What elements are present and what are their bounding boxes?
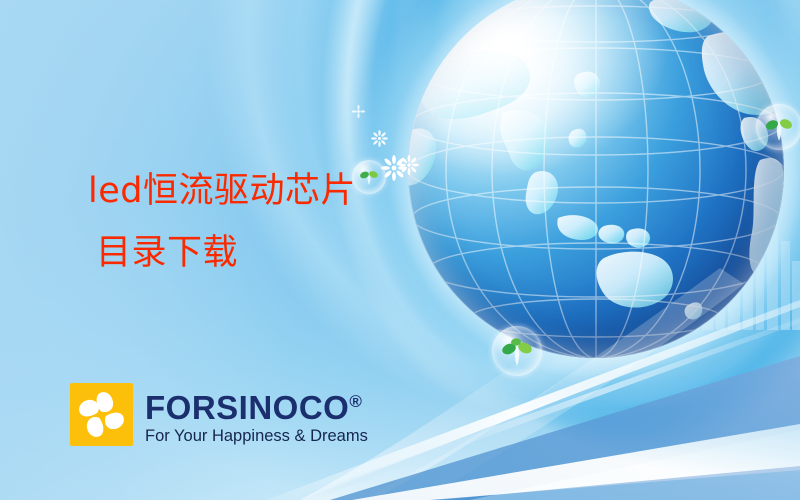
registered-trademark-icon: ® [349,392,362,411]
sparkle-flower-icon [352,105,365,118]
logo-tagline: For Your Happiness & Dreams [145,426,368,446]
headline-line-2: 目录下载 [0,222,400,284]
sparkle-flower-icon [399,155,419,175]
bubble-sprout-icon [492,326,542,376]
promo-banner: led恒流驱动芯片 目录下载 FORSINOCO® For Your Happi… [0,0,800,500]
bubble-sprout-icon [756,104,800,150]
headline: led恒流驱动芯片 目录下载 [0,160,400,284]
four-petal-pinwheel-icon [70,383,133,446]
headline-line-1: led恒流驱动芯片 [0,160,400,222]
logo-company-name: FORSINOCO® [145,385,368,425]
sparkle-flower-icon [371,130,388,147]
logo-name-text: FORSINOCO [145,389,349,426]
brand-logo: FORSINOCO® For Your Happiness & Dreams [70,383,368,446]
